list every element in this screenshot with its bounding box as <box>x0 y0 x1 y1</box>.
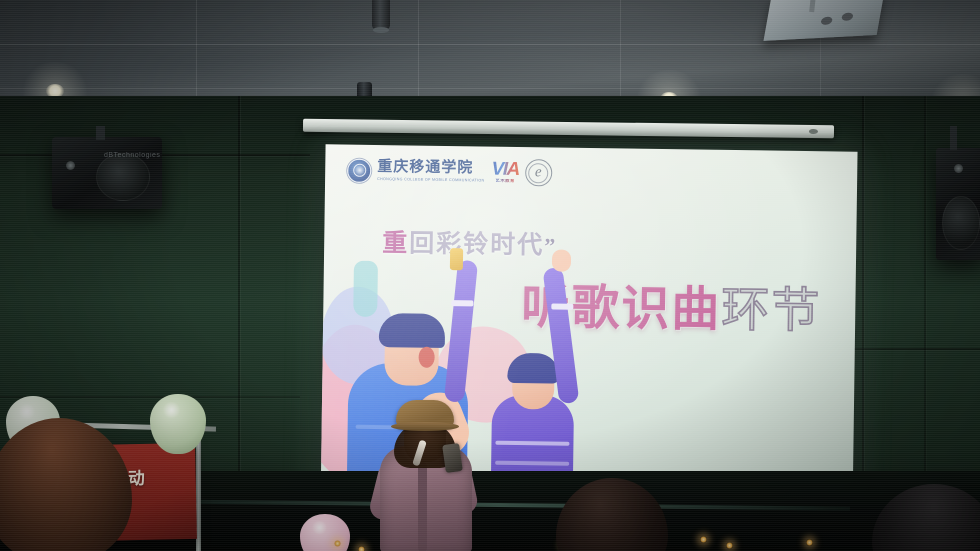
via-logo-subtitle: 艺术教育 <box>495 178 514 183</box>
illustration-woman-hand-right <box>552 249 571 271</box>
university-name-cn: 重庆移通学院 <box>377 160 485 176</box>
screen-roller-knob <box>809 129 818 134</box>
projector-mount-arm <box>809 0 816 12</box>
illustration-man-hair <box>379 313 445 348</box>
fairy-light <box>726 542 733 549</box>
e-circle-logo-letter: e <box>535 165 542 180</box>
university-name-en: CHONGQING COLLEGE OF MOBILE COMMUNICATIO… <box>377 178 484 183</box>
illustration-gold-phone-icon <box>450 248 463 270</box>
via-logo-mark: VIA <box>491 161 518 178</box>
university-crest-icon <box>347 158 371 182</box>
balloon-pink-front <box>300 514 350 551</box>
performer-bucket-hat <box>396 400 454 428</box>
slide-logo-row: 重庆移通学院 CHONGQING COLLEGE OF MOBILE COMMU… <box>347 157 552 187</box>
slide-headline-outline: 环节 <box>721 282 822 339</box>
illustration-woman-hair <box>507 353 559 384</box>
e-circle-logo-icon: e <box>525 159 552 186</box>
balloon-green-right <box>150 394 206 454</box>
ceiling-spotlight-upper <box>372 0 390 30</box>
smartphone-icon <box>442 443 463 473</box>
speaker-right-bracket <box>950 126 957 150</box>
fairy-light <box>334 540 341 547</box>
performer-singer <box>368 392 484 551</box>
speaker-left: dBTechnologies <box>52 137 162 209</box>
ceiling-projector <box>763 0 884 41</box>
fairy-light <box>358 546 365 551</box>
speaker-right <box>936 148 980 260</box>
screenshot-root: dBTechnologies 重庆移通学院 CHONGQING COLLEGE … <box>0 0 980 551</box>
fairy-light <box>806 539 813 546</box>
speaker-left-brand-label: dBTechnologies <box>104 152 160 159</box>
fairy-light <box>700 536 707 543</box>
illustration-blob-teal <box>353 261 378 317</box>
speaker-left-bracket <box>96 126 105 140</box>
